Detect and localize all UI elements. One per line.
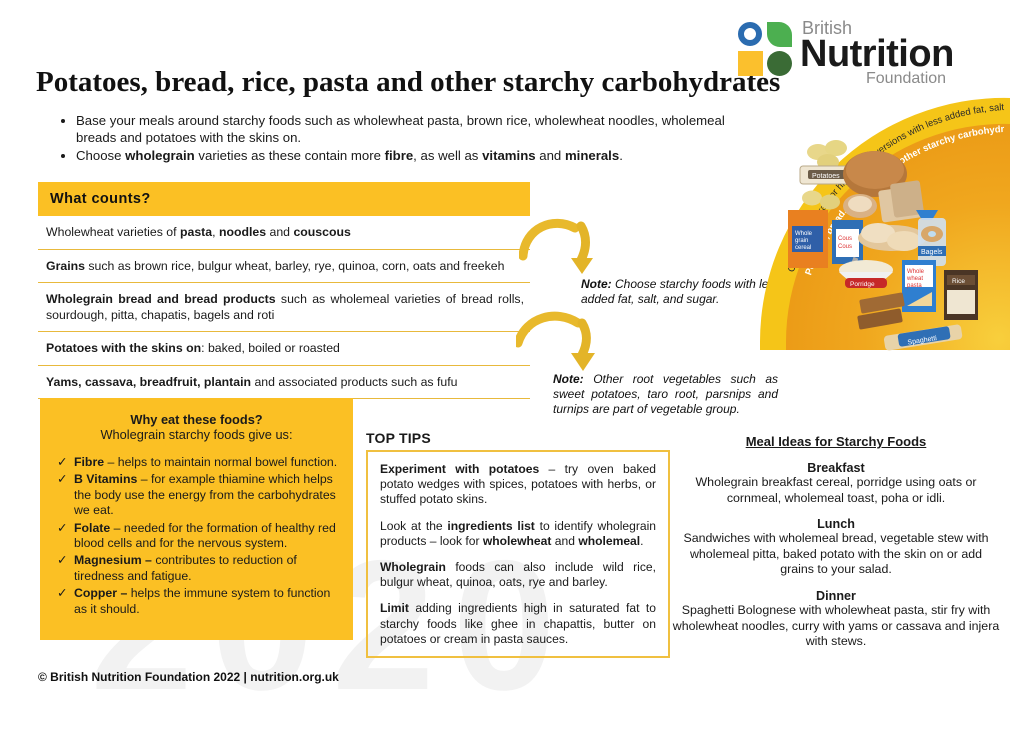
meal-name: Dinner [672, 589, 1000, 603]
food-cereal-box: Whole grain cereal [788, 210, 828, 268]
food-pasta-box: Whole wheat pasta [902, 260, 936, 312]
meal-name: Breakfast [672, 461, 1000, 475]
meal-ideas-section: Meal Ideas for Starchy Foods Breakfast W… [672, 434, 1000, 661]
why-eat-subtitle: Wholegrain starchy foods give us: [54, 427, 339, 442]
why-eat-item: ✓ Fibre – helps to maintain normal bowel… [54, 455, 339, 470]
poster-page: 2020 British Nutrition Foundation Potato… [0, 0, 1020, 712]
why-eat-desc: – needed for the formation of healthy re… [74, 521, 336, 550]
why-eat-item-text: Magnesium – contributes to reduction of … [74, 553, 339, 584]
top-tip: Look at the ingredients list to identify… [380, 519, 656, 549]
intro-bullet: Choose wholegrain varieties as these con… [76, 148, 752, 165]
food-couscous-box: Cous Cous [832, 220, 863, 264]
why-eat-desc: – helps to maintain normal bowel functio… [104, 455, 337, 469]
curved-arrow-icon [519, 214, 593, 276]
curved-arrow-icon [516, 309, 596, 373]
why-eat-title: Why eat these foods? [54, 412, 339, 427]
why-eat-item-text: B Vitamins – for example thiamine which … [74, 472, 339, 518]
svg-text:Porridge: Porridge [850, 281, 875, 288]
why-eat-term: Fibre [74, 455, 104, 469]
why-eat-item-text: Fibre – helps to maintain normal bowel f… [74, 455, 339, 470]
food-rice-bag: Rice [944, 270, 978, 320]
what-counts-row: Yams, cassava, breadfruit, plantain and … [38, 366, 530, 400]
why-eat-term: B Vitamins [74, 472, 137, 486]
check-icon: ✓ [54, 521, 74, 552]
meal-ideas-title: Meal Ideas for Starchy Foods [672, 434, 1000, 449]
meal-description: Wholegrain breakfast cereal, porridge us… [672, 475, 1000, 506]
top-tip: Experiment with potatoes – try oven bake… [380, 462, 656, 508]
why-eat-item: ✓ B Vitamins – for example thiamine whic… [54, 472, 339, 518]
check-icon: ✓ [54, 553, 74, 584]
intro-bullet: Base your meals around starchy foods suc… [76, 113, 752, 146]
why-eat-these-foods-box: Why eat these foods? Wholegrain starchy … [40, 398, 353, 640]
why-eat-item: ✓ Magnesium – contributes to reduction o… [54, 553, 339, 584]
top-tips-box: Experiment with potatoes – try oven bake… [366, 450, 670, 658]
svg-text:Cous: Cous [838, 244, 852, 250]
meal-name: Lunch [672, 517, 1000, 531]
what-counts-header: What counts? [38, 182, 530, 216]
footer-copyright: © British Nutrition Foundation 2022 | nu… [38, 670, 339, 684]
green-leaf-icon [767, 22, 792, 47]
blue-ring-icon [738, 22, 762, 46]
why-eat-term: Folate [74, 521, 110, 535]
check-icon: ✓ [54, 586, 74, 617]
top-tip: Limit adding ingredients high in saturat… [380, 601, 656, 647]
note-root-vegetables: Note: Other root vegetables such as swee… [553, 372, 778, 417]
yellow-square-icon [738, 51, 763, 76]
why-eat-term: Magnesium – [74, 553, 152, 567]
why-eat-item: ✓ Copper – helps the immune system to fu… [54, 586, 339, 617]
logo-marks [738, 22, 792, 76]
note-label: Note: [581, 277, 612, 291]
why-eat-item-text: Folate – needed for the formation of hea… [74, 521, 339, 552]
note-text: Other root vegetables such as sweet pota… [553, 372, 778, 416]
check-icon: ✓ [54, 472, 74, 518]
logo-foundation-text: Foundation [866, 70, 946, 88]
svg-text:Whole: Whole [907, 269, 925, 275]
svg-text:Cous: Cous [838, 236, 852, 242]
svg-text:Bagels: Bagels [921, 249, 943, 256]
svg-text:Whole: Whole [795, 231, 813, 237]
what-counts-row: Wholewheat varieties of pasta, noodles a… [38, 216, 530, 250]
what-counts-section: What counts? Wholewheat varieties of pas… [38, 182, 530, 399]
svg-text:Potatoes: Potatoes [812, 173, 840, 180]
what-counts-row: Wholegrain bread and bread products such… [38, 283, 530, 332]
svg-text:wheat: wheat [906, 276, 923, 282]
svg-text:pasta: pasta [907, 283, 922, 289]
top-tips-title: TOP TIPS [366, 430, 431, 446]
what-counts-row: Grains such as brown rice, bulgur wheat,… [38, 250, 530, 284]
why-eat-term: Copper – [74, 586, 127, 600]
why-eat-item-text: Copper – helps the immune system to func… [74, 586, 339, 617]
svg-text:cereal: cereal [795, 245, 811, 251]
intro-bullet-list: Base your meals around starchy foods suc… [62, 113, 752, 167]
svg-text:grain: grain [795, 238, 808, 244]
page-title: Potatoes, bread, rice, pasta and other s… [36, 66, 780, 99]
meal-description: Sandwiches with wholemeal bread, vegetab… [672, 531, 1000, 578]
eatwell-guide-wedge: Choose wholegrain or higher fibre versio… [752, 92, 1014, 352]
what-counts-row: Potatoes with the skins on: baked, boile… [38, 332, 530, 366]
top-tip: Wholegrain foods can also include wild r… [380, 560, 656, 590]
food-bagels: Bagels [916, 210, 946, 266]
check-icon: ✓ [54, 455, 74, 470]
bnf-logo: British Nutrition Foundation [738, 18, 970, 80]
dark-green-circle-icon [767, 51, 792, 76]
intro-bullet-text: Base your meals around starchy foods suc… [76, 113, 725, 145]
why-eat-item: ✓ Folate – needed for the formation of h… [54, 521, 339, 552]
note-label: Note: [553, 372, 584, 386]
meal-description: Spaghetti Bolognese with wholewheat past… [672, 603, 1000, 650]
svg-text:Rice: Rice [952, 278, 965, 285]
intro-bullet-text: Choose wholegrain varieties as these con… [76, 148, 623, 163]
